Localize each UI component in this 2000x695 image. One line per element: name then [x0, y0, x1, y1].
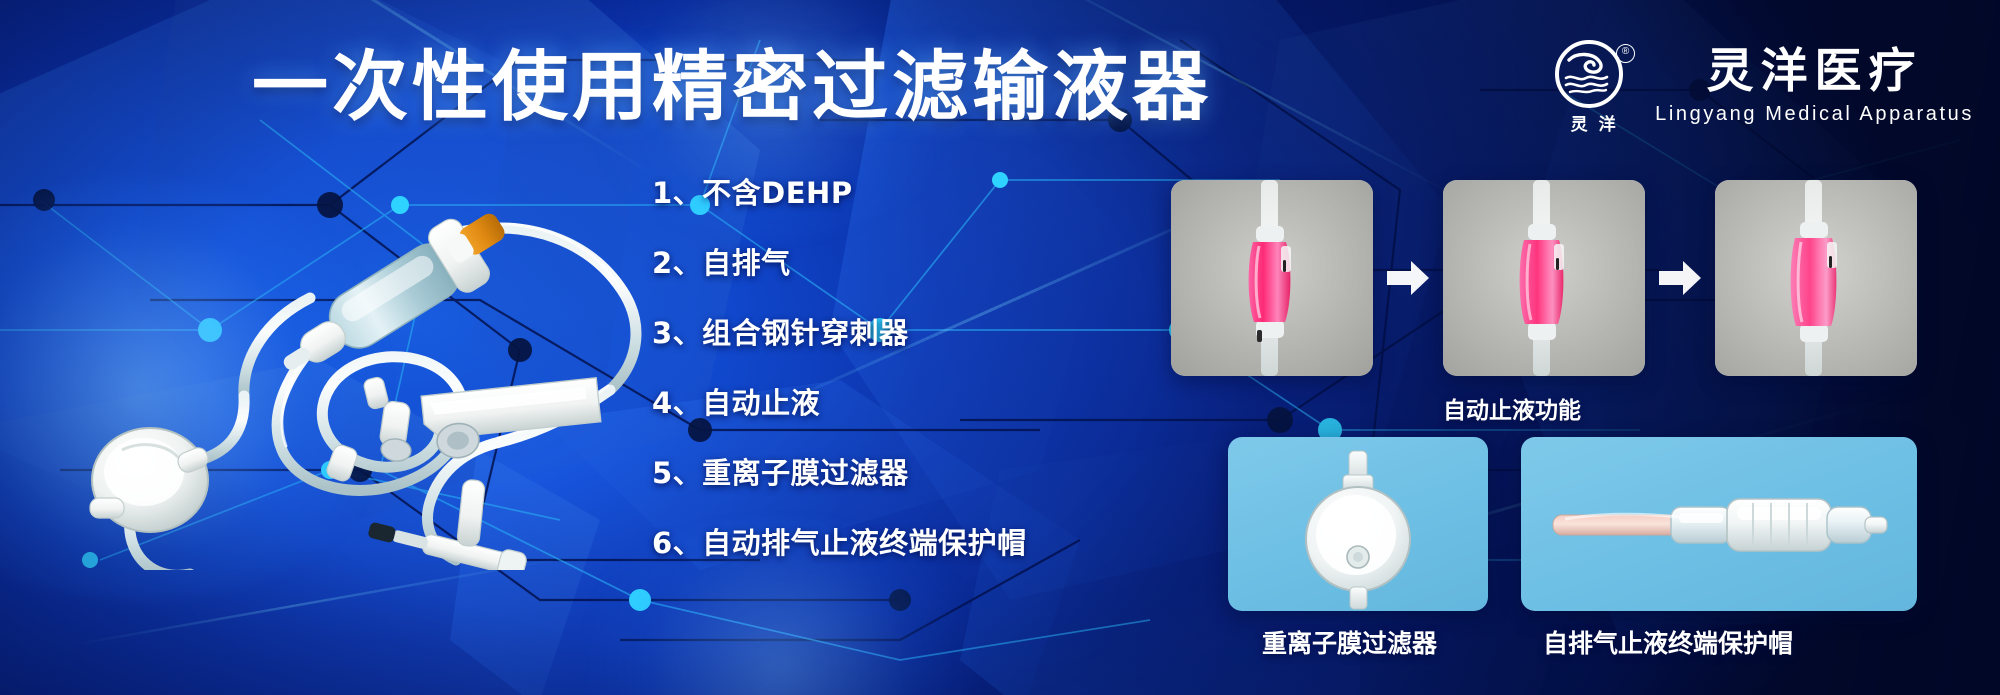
auto-stop-photo-3 [1715, 180, 1917, 376]
page-title: 一次性使用精密过滤输液器 [252, 44, 1212, 130]
auto-stop-frame-2 [1443, 180, 1645, 376]
emblem-caption: 灵洋 [1551, 110, 1635, 135]
detail-card-caption-2: 自排气止液终端保护帽 [1543, 629, 1793, 658]
self-venting-end-cap-photo [1521, 437, 1917, 611]
arrow-right-icon-1 [1385, 258, 1431, 298]
demo-sequence-caption: 自动止液功能 [1443, 398, 1581, 425]
auto-stop-frame-3 [1715, 180, 1917, 376]
feature-item-6: 6、自动排气止液终端保护帽 [652, 526, 1027, 560]
auto-stop-photo-2 [1443, 180, 1645, 376]
detail-card-caption-1: 重离子膜过滤器 [1262, 629, 1437, 658]
feature-item-3: 3、组合钢针穿刺器 [652, 316, 1027, 350]
brand-name-en: Lingyang Medical Apparatus [1655, 102, 1974, 127]
lingyang-wave-emblem-icon: ® 灵洋 [1551, 38, 1635, 134]
feature-item-1: 1、不含DEHP [652, 176, 1027, 210]
heavy-ion-membrane-filter-photo [1228, 437, 1488, 611]
arrow-right-icon-2 [1657, 258, 1703, 298]
brand-logo: ® 灵洋 灵洋医疗 Lingyang Medical Apparatus [1551, 38, 1974, 134]
infusion-set-illustration [30, 150, 650, 570]
auto-stop-frame-1 [1171, 180, 1373, 376]
infusion-set-photo [30, 150, 650, 570]
feature-list: 1、不含DEHP 2、自排气 3、组合钢针穿刺器 4、自动止液 5、重离子膜过滤… [652, 176, 1027, 560]
emblem-circle [1555, 40, 1623, 108]
self-venting-end-cap [1521, 437, 1917, 611]
promo-banner: 一次性使用精密过滤输液器 ® 灵洋 灵洋医疗 Lingyang Medical … [0, 0, 2000, 695]
feature-item-2: 2、自排气 [652, 246, 1027, 280]
registered-trademark-icon: ® [1616, 44, 1635, 63]
brand-text: 灵洋医疗 Lingyang Medical Apparatus [1655, 45, 1974, 127]
emblem-wave-svg [1559, 44, 1619, 104]
auto-stop-photo-1 [1171, 180, 1373, 376]
feature-item-4: 4、自动止液 [652, 386, 1027, 420]
feature-item-5: 5、重离子膜过滤器 [652, 456, 1027, 490]
heavy-ion-membrane-filter [1228, 437, 1488, 611]
brand-name-cn: 灵洋医疗 [1707, 45, 1923, 99]
